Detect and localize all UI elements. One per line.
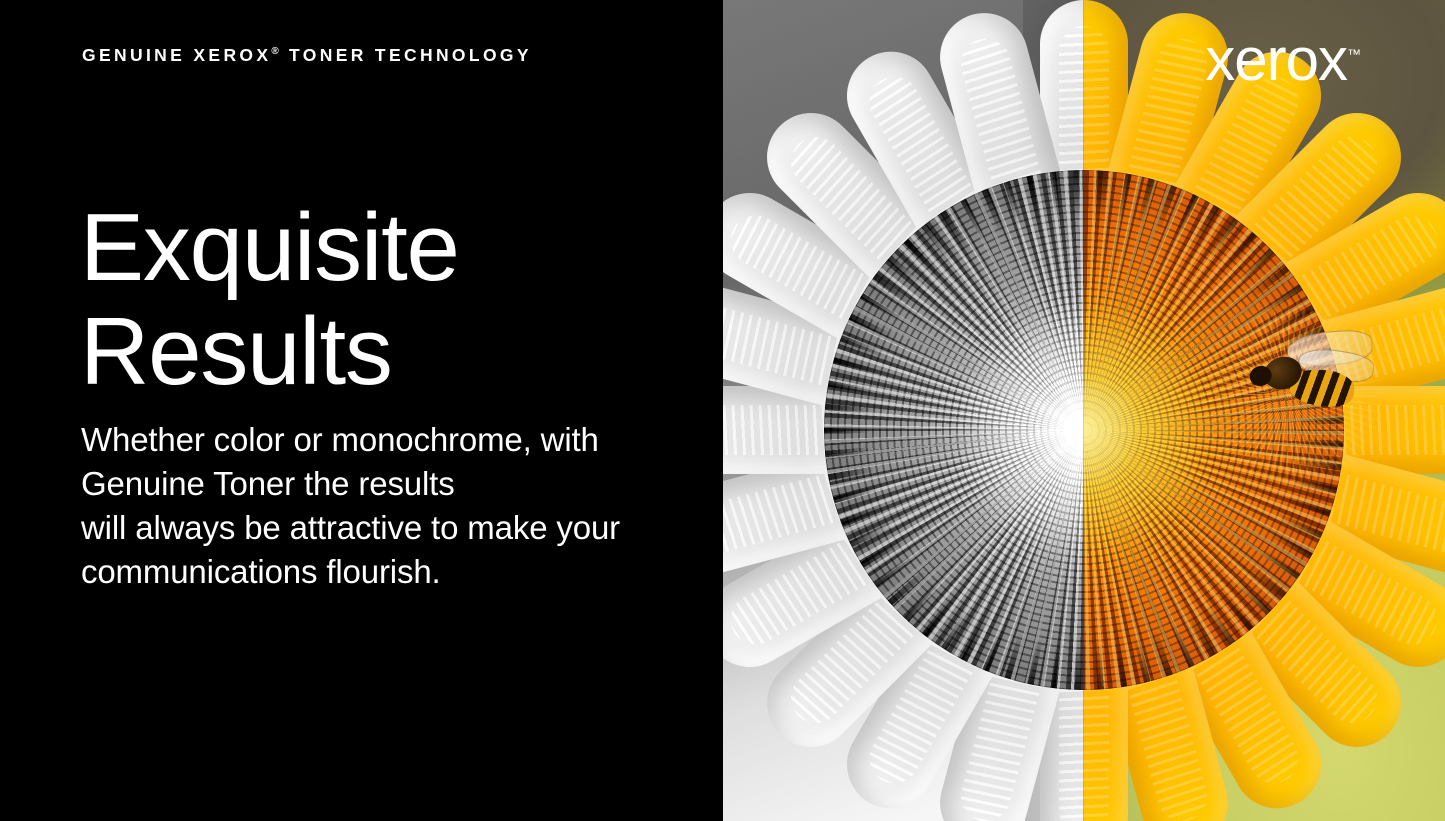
body-copy: Whether color or monochrome, with Genuin…	[81, 418, 620, 594]
sunflower-graphic-mono	[723, 0, 1083, 821]
sunflower-monochrome-half	[723, 0, 1083, 821]
xerox-logo: xerox™	[1205, 30, 1361, 90]
headline-line-1: Exquisite	[80, 196, 459, 300]
eyebrow-prefix: GENUINE XEROX	[82, 45, 271, 65]
page-title: Exquisite Results	[80, 196, 459, 404]
eyebrow-heading: GENUINE XEROX® TONER TECHNOLOGY	[82, 45, 532, 66]
copy-panel: GENUINE XEROX® TONER TECHNOLOGY Exquisit…	[0, 0, 723, 821]
body-line-3: will always be attractive to make your	[81, 506, 620, 550]
xerox-logo-text: xerox	[1205, 26, 1347, 93]
trademark-icon: ™	[1347, 46, 1361, 62]
headline-line-2: Results	[80, 300, 459, 404]
mono-color-split-seam	[1083, 0, 1084, 821]
body-line-4: communications flourish.	[81, 550, 620, 594]
sunflower-color-half	[1083, 0, 1445, 821]
sunflower-graphic-color	[1083, 0, 1445, 821]
sunflower-image-panel: xerox™	[723, 0, 1445, 821]
body-line-1: Whether color or monochrome, with	[81, 418, 620, 462]
body-line-2: Genuine Toner the results	[81, 462, 620, 506]
registered-trademark-icon: ®	[271, 46, 280, 57]
eyebrow-suffix: TONER TECHNOLOGY	[289, 45, 532, 65]
xerox-toner-ad: GENUINE XEROX® TONER TECHNOLOGY Exquisit…	[0, 0, 1445, 821]
